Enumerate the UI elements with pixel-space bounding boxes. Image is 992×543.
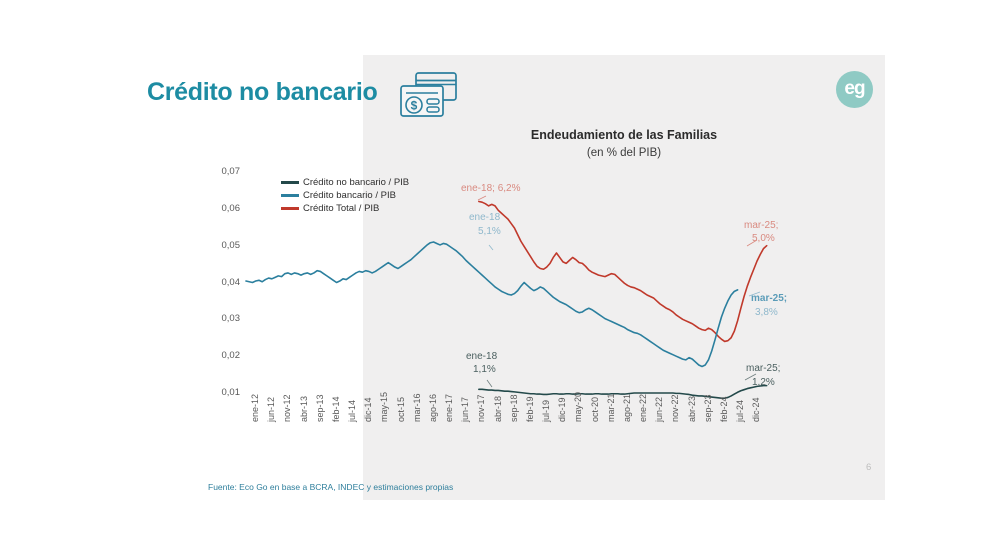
legend-swatch-total bbox=[281, 207, 299, 209]
y-tick-label: 0,06 bbox=[196, 203, 240, 214]
legend-label-no-bancario: Crédito no bancario / PIB bbox=[303, 177, 409, 188]
x-tick-label: ene-22 bbox=[638, 394, 648, 422]
x-tick-label: ene-12 bbox=[250, 394, 260, 422]
annotation-no-bancario-end-line1: mar-25; bbox=[746, 363, 780, 376]
x-tick-label: sep-23 bbox=[703, 394, 713, 422]
legend-label-total: Crédito Total / PIB bbox=[303, 203, 379, 214]
x-tick-label: nov-22 bbox=[670, 394, 680, 422]
annotation-total-start: ene-18; 6,2% bbox=[461, 183, 521, 196]
annotation-total-end-line2: 5,0% bbox=[752, 233, 775, 246]
slide-canvas: Crédito no bancario eg $ Endeudamiento d… bbox=[0, 0, 992, 543]
x-tick-label: abr-18 bbox=[493, 396, 503, 422]
x-tick-label: may-15 bbox=[379, 392, 389, 422]
x-tick-label: jul-19 bbox=[541, 400, 551, 422]
legend-swatch-no-bancario bbox=[281, 181, 299, 183]
annotation-no-bancario-end-line2: 1,2% bbox=[752, 377, 775, 390]
x-tick-label: oct-20 bbox=[590, 397, 600, 422]
annotation-bancario-end-line1: mar-25; bbox=[751, 293, 787, 306]
x-tick-label: sep-18 bbox=[509, 394, 519, 422]
x-tick-label: dic-14 bbox=[363, 397, 373, 422]
x-tick-label: oct-15 bbox=[396, 397, 406, 422]
x-tick-label: abr-23 bbox=[687, 396, 697, 422]
annotation-no-bancario-start-line2: 1,1% bbox=[473, 364, 496, 377]
x-tick-label: feb-19 bbox=[525, 396, 535, 422]
x-tick-label: feb-14 bbox=[331, 396, 341, 422]
x-tick-label: feb-24 bbox=[719, 396, 729, 422]
x-tick-label: jun-17 bbox=[460, 397, 470, 422]
annotation-no-bancario-start-line1: ene-18 bbox=[466, 351, 497, 364]
legend-swatch-bancario bbox=[281, 194, 299, 196]
x-tick-label: mar-21 bbox=[606, 393, 616, 422]
x-tick-label: abr-13 bbox=[299, 396, 309, 422]
y-tick-label: 0,07 bbox=[196, 166, 240, 177]
x-tick-label: mar-16 bbox=[412, 393, 422, 422]
leader-no-bancario-start bbox=[487, 380, 492, 387]
leader-bancario-peak bbox=[489, 245, 493, 250]
x-tick-label: dic-24 bbox=[751, 397, 761, 422]
y-tick-label: 0,05 bbox=[196, 240, 240, 251]
x-tick-label: nov-12 bbox=[282, 394, 292, 422]
leader-total-start bbox=[478, 196, 486, 200]
series-line-cr-dito-total-pib bbox=[479, 201, 767, 341]
page-number: 6 bbox=[866, 462, 871, 473]
source-note: Fuente: Eco Go en base a BCRA, INDEC y e… bbox=[208, 482, 453, 492]
series-line-cr-dito-bancario-pib bbox=[246, 242, 738, 367]
x-tick-label: jul-14 bbox=[347, 400, 357, 422]
chart-legend: Crédito no bancario / PIB Crédito bancar… bbox=[281, 176, 409, 215]
y-tick-label: 0,02 bbox=[196, 350, 240, 361]
legend-item-no-bancario: Crédito no bancario / PIB bbox=[281, 176, 409, 189]
chart-plot-area: 0,070,060,050,040,030,020,01 ene-12jun-1… bbox=[0, 0, 992, 543]
x-tick-label: ago-16 bbox=[428, 394, 438, 422]
x-tick-label: may-20 bbox=[573, 392, 583, 422]
chart-svg bbox=[0, 0, 992, 543]
y-tick-label: 0,01 bbox=[196, 387, 240, 398]
x-tick-label: nov-17 bbox=[476, 394, 486, 422]
y-tick-label: 0,04 bbox=[196, 277, 240, 288]
annotation-bancario-end-line2: 3,8% bbox=[755, 307, 778, 320]
legend-item-bancario: Crédito bancario / PIB bbox=[281, 189, 409, 202]
annotation-bancario-peak-line1: ene-18 bbox=[469, 212, 500, 225]
x-tick-label: jul-24 bbox=[735, 400, 745, 422]
x-tick-label: ago-21 bbox=[622, 394, 632, 422]
x-tick-label: jun-12 bbox=[266, 397, 276, 422]
x-tick-label: jun-22 bbox=[654, 397, 664, 422]
y-tick-label: 0,03 bbox=[196, 313, 240, 324]
x-tick-label: sep-13 bbox=[315, 394, 325, 422]
x-tick-label: ene-17 bbox=[444, 394, 454, 422]
legend-label-bancario: Crédito bancario / PIB bbox=[303, 190, 396, 201]
annotation-bancario-peak-line2: 5,1% bbox=[478, 226, 501, 239]
legend-item-total: Crédito Total / PIB bbox=[281, 202, 409, 215]
annotation-total-end-line1: mar-25; bbox=[744, 220, 778, 233]
x-tick-label: dic-19 bbox=[557, 397, 567, 422]
